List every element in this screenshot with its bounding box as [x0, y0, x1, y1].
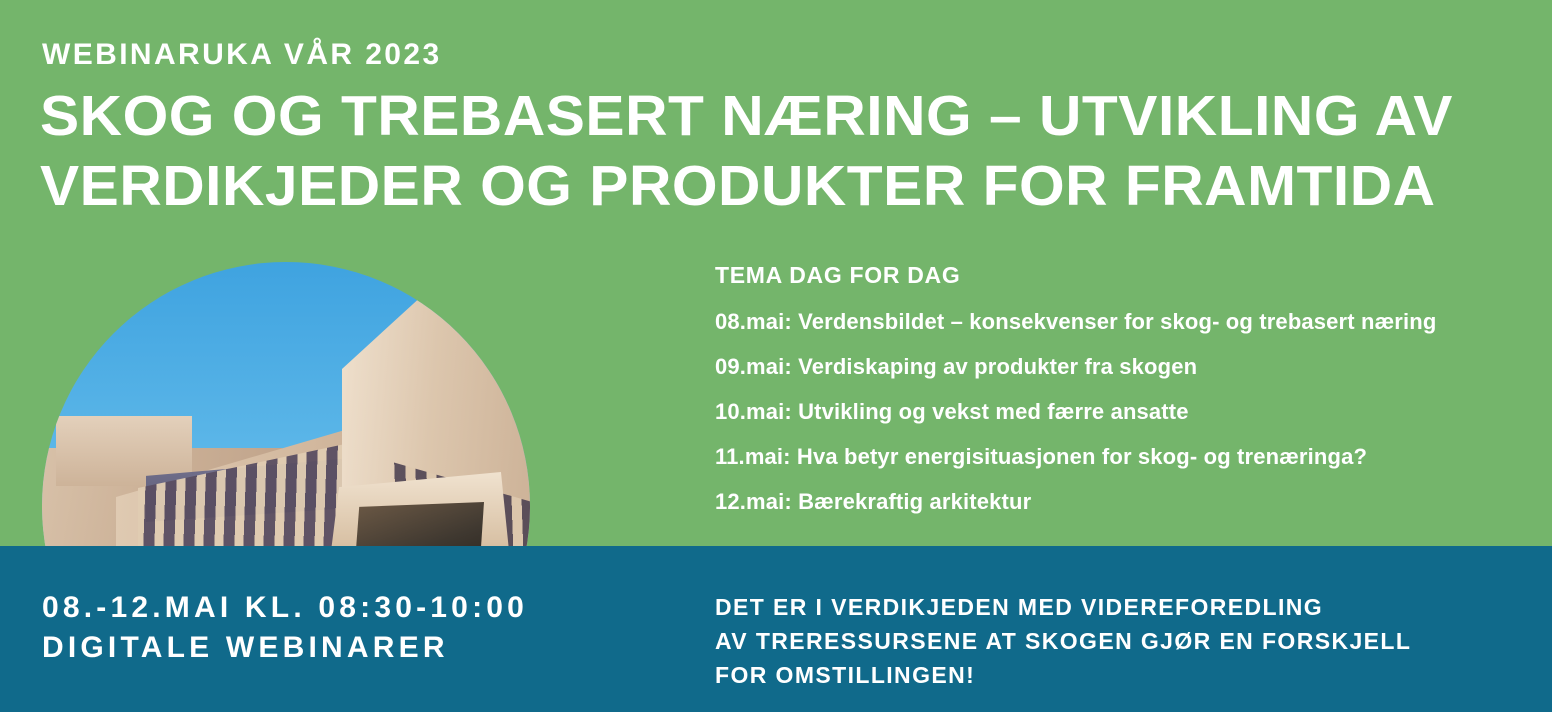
- event-slogan-line-2: AV TRERESSURSENE AT SKOGEN GJØR EN FORSK…: [715, 624, 1411, 658]
- event-date-time: 08.-12.MAI KL. 08:30-10:00: [42, 588, 528, 628]
- programme-item: 08.mai: Verdensbildet – konsekvenser for…: [715, 311, 1525, 333]
- poster-title-line-1: SKOG OG TREBASERT NÆRING – UTVIKLING AV: [40, 82, 1503, 152]
- event-slogan: DET ER I VERDIKJEDEN MED VIDEREFOREDLING…: [715, 590, 1411, 692]
- poster-kicker: WEBINARUKA VÅR 2023: [42, 38, 442, 71]
- programme-list: TEMA DAG FOR DAG 08.mai: Verdensbildet –…: [715, 262, 1525, 536]
- programme-item: 09.mai: Verdiskaping av produkter fra sk…: [715, 356, 1525, 378]
- poster-title-line-2: VERDIKJEDER OG PRODUKTER FOR FRAMTIDA: [40, 152, 1503, 222]
- event-slogan-line-3: FOR OMSTILLINGEN!: [715, 658, 1411, 692]
- programme-heading: TEMA DAG FOR DAG: [715, 262, 1525, 289]
- poster-title: SKOG OG TREBASERT NÆRING – UTVIKLING AV …: [40, 82, 1460, 221]
- event-slogan-line-1: DET ER I VERDIKJEDEN MED VIDEREFOREDLING: [715, 590, 1411, 624]
- programme-item: 12.mai: Bærekraftig arkitektur: [715, 491, 1525, 513]
- programme-item: 11.mai: Hva betyr energisituasjonen for …: [715, 446, 1525, 468]
- event-format: DIGITALE WEBINARER: [42, 628, 528, 668]
- webinar-poster: WEBINARUKA VÅR 2023 SKOG OG TREBASERT NÆ…: [0, 0, 1552, 712]
- event-schedule: 08.-12.MAI KL. 08:30-10:00 DIGITALE WEBI…: [42, 588, 528, 668]
- programme-item: 10.mai: Utvikling og vekst med færre ans…: [715, 401, 1525, 423]
